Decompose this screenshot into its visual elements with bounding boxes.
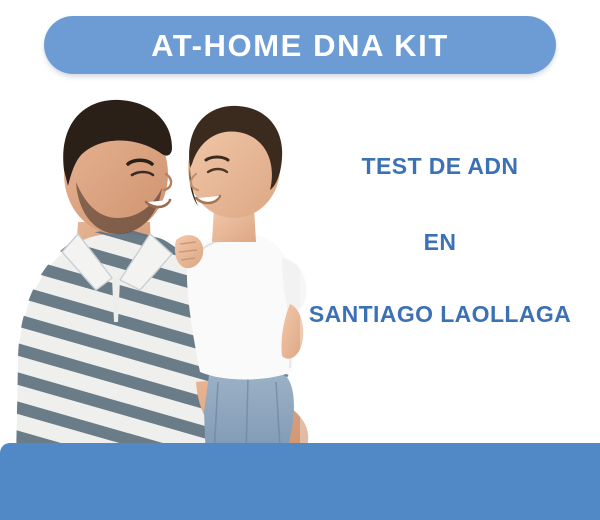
- headline-line-3: SANTIAGO LAOLLAGA: [290, 303, 590, 326]
- page-title: AT-HOME DNA KIT: [151, 30, 449, 61]
- header-banner: AT-HOME DNA KIT: [44, 16, 556, 74]
- family-photo-illustration: [0, 82, 340, 460]
- headline-line-2: EN: [290, 231, 590, 254]
- headline-line-1: TEST DE ADN: [290, 155, 590, 178]
- footer-bar: www.homednapaternitykit.com 1-877-219-44…: [0, 443, 600, 520]
- headline-block: TEST DE ADN EN SANTIAGO LAOLLAGA: [290, 155, 590, 326]
- dna-kit-promo-card: AT-HOME DNA KIT: [0, 0, 600, 520]
- family-photo: [0, 82, 340, 460]
